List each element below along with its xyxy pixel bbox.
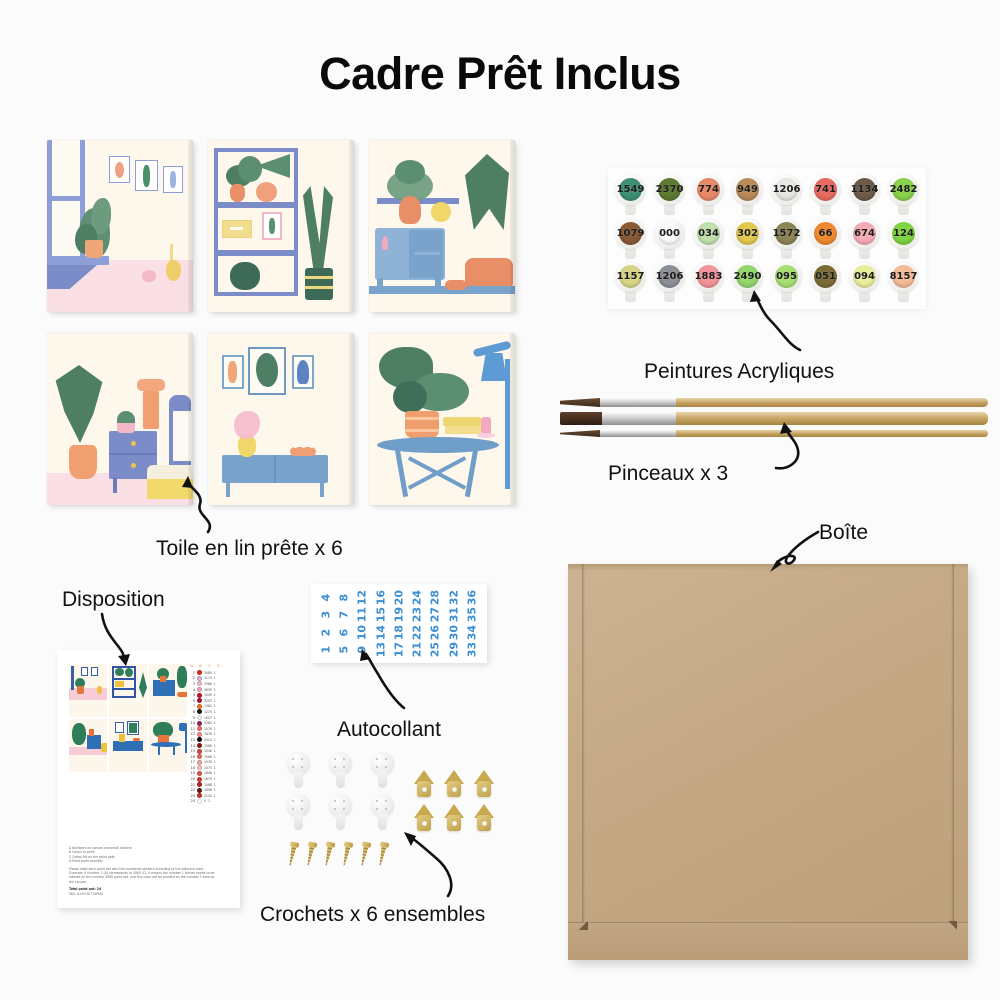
- legend-swatch: [197, 782, 202, 787]
- legend-code: 0314: [204, 738, 212, 742]
- screw: [340, 841, 354, 866]
- legend-swatch: [197, 670, 202, 675]
- legend-number: 14: [188, 744, 195, 748]
- paint-pot-number: 1206: [652, 271, 687, 282]
- sticker-number: 23: [409, 606, 426, 624]
- paint-pot: 034: [691, 218, 726, 260]
- paint-pot: 66: [808, 218, 843, 260]
- adhesive-hook: [283, 752, 314, 788]
- legend-code: 1049: [204, 693, 212, 697]
- canvas-6: [369, 333, 515, 505]
- d-ring: [442, 804, 466, 832]
- d-ring: [412, 770, 436, 798]
- sticker-number: 31: [445, 606, 462, 624]
- canvas-3: [369, 140, 515, 312]
- paint-pot-number: 1157: [613, 271, 648, 282]
- paint-pot-number: 2482: [886, 184, 921, 195]
- sticker-number: 1: [317, 640, 334, 658]
- sticker-number: 9: [354, 640, 371, 658]
- legend-qty: 1: [214, 716, 216, 720]
- paint-pot-number: 302: [730, 228, 765, 239]
- legend-header-cell: D: [215, 664, 222, 668]
- paint-pot-number: 2490: [730, 271, 765, 282]
- paint-pot: 124: [886, 218, 921, 260]
- legend-code: 1046: [204, 749, 212, 753]
- legend-number: 10: [188, 721, 195, 725]
- paint-pot: 1079: [613, 218, 648, 260]
- paint-pot-number: 1549: [613, 184, 648, 195]
- legend-swatch: [197, 765, 202, 770]
- d-ring: [442, 770, 466, 798]
- legend-code: 3476: [204, 732, 212, 736]
- mini-2: [109, 664, 147, 717]
- screw: [322, 841, 336, 866]
- legend-swatch: [197, 799, 202, 804]
- paint-pot-number: 051: [808, 271, 843, 282]
- paint-pot-number: 034: [691, 228, 726, 239]
- paint-pot: 094: [847, 261, 882, 303]
- legend-swatch: [197, 754, 202, 759]
- legend-qty: 1: [214, 788, 216, 792]
- screw: [358, 841, 372, 866]
- legend-number: 15: [188, 749, 195, 753]
- paint-pot: 095: [769, 261, 804, 303]
- legend-qty: 1: [214, 721, 216, 725]
- legend-code: 1088: [204, 783, 212, 787]
- paint-row-3: 11571206188324900950510948157: [613, 261, 921, 303]
- mini-5: [109, 719, 147, 772]
- legend-code: 1073: [204, 766, 212, 770]
- sticker-number: 18: [390, 623, 407, 641]
- sticker-number: 12: [354, 589, 371, 607]
- legend-swatch: [197, 676, 202, 681]
- sku-line: SKU: 6-LYCHOT-SD940: [69, 892, 219, 896]
- sticker-number: 11: [354, 606, 371, 624]
- box-label: Boîte: [819, 521, 868, 545]
- paint-pot-number: 095: [769, 271, 804, 282]
- paint-pot: 1157: [613, 261, 648, 303]
- legend-swatch: [197, 704, 202, 709]
- paint-pot: 1206: [769, 174, 804, 216]
- legend-swatch: [197, 693, 202, 698]
- paint-pot: 000: [652, 218, 687, 260]
- paint-pot-number: 000: [652, 228, 687, 239]
- legend-swatch: [197, 698, 202, 703]
- screw: [286, 841, 300, 866]
- legend-swatch: [197, 721, 202, 726]
- canvas-1: [47, 140, 193, 312]
- sticker-number: 13: [372, 640, 389, 658]
- paint-pot-number: 8157: [886, 271, 921, 282]
- paint-pot: 774: [691, 174, 726, 216]
- brush-1: [560, 398, 988, 407]
- legend-number: 6: [188, 699, 195, 703]
- sticker-number: 6: [336, 623, 353, 641]
- sticker-number: 24: [409, 589, 426, 607]
- paint-pot: 302: [730, 218, 765, 260]
- legend-header-cell: N: [188, 664, 195, 668]
- paint-row-2: 1079000034302157266674124: [613, 218, 921, 260]
- adhesive-hook: [367, 752, 398, 788]
- adhesive-hook: [367, 794, 398, 830]
- screws: [288, 842, 398, 866]
- legend-swatch: [197, 743, 202, 748]
- mini-4: [69, 719, 107, 772]
- legend-qty: 1: [214, 688, 216, 692]
- paint-pot-number: 774: [691, 184, 726, 195]
- instruction-line: D Paint parts quantity: [69, 859, 219, 863]
- brush-3: [560, 430, 988, 437]
- legend-qty: 1: [214, 732, 216, 736]
- legend-code: 1656: [204, 788, 212, 792]
- sticker-number: 7: [336, 606, 353, 624]
- legend-code: 1568: [204, 744, 212, 748]
- legend-swatch: [197, 687, 202, 692]
- legend-code: 3366: [204, 682, 212, 686]
- legend-swatch: [197, 732, 202, 737]
- legend-swatch: [197, 681, 202, 686]
- sticker-number: 30: [445, 623, 462, 641]
- legend-swatch: [197, 760, 202, 765]
- legend-qty: 1: [214, 783, 216, 787]
- legend-number: 22: [188, 788, 195, 792]
- legend-number: 23: [188, 794, 195, 798]
- paint-pot: 1134: [847, 174, 882, 216]
- paints-label: Peintures Acryliques: [644, 360, 834, 384]
- legend-number: 18: [188, 766, 195, 770]
- paint-pot-number: 66: [808, 228, 843, 239]
- brushes-label: Pinceaux x 3: [608, 462, 728, 486]
- mini-6: [149, 719, 187, 772]
- canvas-5: [208, 333, 354, 505]
- legend-qty: 1: [214, 704, 216, 708]
- legend-number: 2: [188, 676, 195, 680]
- paint-pot: 1206: [652, 261, 687, 303]
- paint-pot: 2490: [730, 261, 765, 303]
- sticker-number: 8: [336, 589, 353, 607]
- layout-sheet: NBCD 13080123174133366143635151049163253…: [57, 650, 240, 908]
- legend-row: 2401: [188, 799, 232, 805]
- mini-1: [69, 664, 107, 717]
- legend-swatch: [197, 771, 202, 776]
- d-rings: [412, 770, 496, 832]
- paint-pot-number: 2370: [652, 184, 687, 195]
- instructions-block: A Numbers on canvas and small stickersB …: [69, 846, 219, 896]
- paint-pot: 8157: [886, 261, 921, 303]
- sticker-number: 17: [390, 640, 407, 658]
- legend-number: 8: [188, 710, 195, 714]
- brush-set: [560, 398, 990, 450]
- hooks-label: Crochets x 6 ensembles: [260, 903, 485, 927]
- mini-3: [149, 664, 187, 717]
- sticker-number: 15: [372, 606, 389, 624]
- mini-preview-grid: [69, 664, 187, 772]
- poster-root: Cadre Prêt Inclus: [0, 0, 1000, 1000]
- paint-pot-number: 1206: [769, 184, 804, 195]
- paint-row-1: 15492370774949120674111342482: [613, 174, 921, 216]
- shipping-box: [568, 564, 968, 960]
- d-ring: [412, 804, 436, 832]
- legend-qty: 1: [214, 676, 216, 680]
- paint-pot: 741: [808, 174, 843, 216]
- sticker-number: 33: [463, 640, 480, 658]
- brush-2: [560, 412, 988, 425]
- legend-swatch: [197, 715, 202, 720]
- legend-swatch: [197, 737, 202, 742]
- paint-pot: 1883: [691, 261, 726, 303]
- canvas-4: [47, 333, 193, 505]
- paint-pot: 2370: [652, 174, 687, 216]
- canvas-2: [208, 140, 354, 312]
- legend-number: 19: [188, 771, 195, 775]
- paint-pot-number: 1572: [769, 228, 804, 239]
- legend-code: 3080: [204, 671, 212, 675]
- legend-qty: 1: [214, 682, 216, 686]
- legend-qty: 1: [214, 744, 216, 748]
- adhesive-hook: [325, 752, 356, 788]
- legend-swatch: [197, 777, 202, 782]
- legend-number: 9: [188, 716, 195, 720]
- canvas-grid: [47, 140, 515, 505]
- legend-code: 1566: [204, 755, 212, 759]
- legend-qty: 1: [214, 738, 216, 742]
- paint-pot-number: 124: [886, 228, 921, 239]
- legend-number: 20: [188, 777, 195, 781]
- paint-pot-number: 674: [847, 228, 882, 239]
- adhesive-hook: [325, 794, 356, 830]
- legend-code: 0: [204, 799, 206, 803]
- legend-code: 3174: [204, 676, 212, 680]
- sticker-number: 2: [317, 623, 334, 641]
- paint-pot-number: 094: [847, 271, 882, 282]
- sticker-number: 19: [390, 606, 407, 624]
- legend-qty: 1: [214, 699, 216, 703]
- sticker-number: 22: [409, 623, 426, 641]
- legend-number: 17: [188, 760, 195, 764]
- sticker-number: 4: [317, 589, 334, 607]
- legend-code: 1648: [204, 771, 212, 775]
- sticker-number: 25: [427, 640, 444, 658]
- legend-qty: 1: [214, 693, 216, 697]
- legend-number: 24: [188, 799, 195, 803]
- instructions-body: Please label each paint pot with the num…: [69, 867, 219, 885]
- legend-qty: 1: [214, 766, 216, 770]
- page-title: Cadre Prêt Inclus: [0, 48, 1000, 100]
- sticker-number: 5: [336, 640, 353, 658]
- legend-number: 13: [188, 738, 195, 742]
- legend-swatch: [197, 793, 202, 798]
- paint-pot: 949: [730, 174, 765, 216]
- hooks-arrow: [398, 826, 460, 900]
- paint-pot: 1549: [613, 174, 648, 216]
- d-ring: [472, 770, 496, 798]
- legend-code: 1027: [204, 716, 212, 720]
- paint-pot: 1572: [769, 218, 804, 260]
- legend-swatch: [197, 709, 202, 714]
- sticker-number: 28: [427, 589, 444, 607]
- legend-number: 3: [188, 682, 195, 686]
- sticker-number: 10: [354, 623, 371, 641]
- layout-label: Disposition: [62, 588, 165, 612]
- legend-qty: 1: [214, 710, 216, 714]
- sticker-number: 3: [317, 606, 334, 624]
- color-legend: NBCD 13080123174133366143635151049163253…: [188, 664, 232, 804]
- paint-pot-number: 741: [808, 184, 843, 195]
- legend-qty: 1: [214, 727, 216, 731]
- adhesive-hooks: [283, 752, 403, 830]
- canvas-label: Toile en lin prête x 6: [156, 537, 343, 561]
- paint-pot: 2482: [886, 174, 921, 216]
- legend-number: 21: [188, 783, 195, 787]
- legend-code: 1079: [204, 727, 212, 731]
- legend-code: 5260: [204, 721, 212, 725]
- sticker-number: 21: [409, 640, 426, 658]
- legend-header-cell: C: [206, 664, 213, 668]
- legend-code: 1384: [204, 704, 212, 708]
- paint-pot-number: 1883: [691, 271, 726, 282]
- screw: [304, 841, 318, 866]
- legend-code: 1076: [204, 760, 212, 764]
- sticker-number: 27: [427, 606, 444, 624]
- paint-pot-number: 1134: [847, 184, 882, 195]
- legend-qty: 1: [214, 755, 216, 759]
- legend-code: 2124: [204, 794, 212, 798]
- stickers-label: Autocollant: [337, 718, 441, 742]
- paint-pot: 674: [847, 218, 882, 260]
- legend-number: 5: [188, 693, 195, 697]
- sticker-number: 26: [427, 623, 444, 641]
- sticker-number: 36: [463, 589, 480, 607]
- adhesive-hook: [283, 794, 314, 830]
- paint-pot-number: 1079: [613, 228, 648, 239]
- sticker-number: 29: [445, 640, 462, 658]
- legend-qty: 1: [214, 760, 216, 764]
- legend-code: 3253: [204, 699, 212, 703]
- legend-number: 4: [188, 688, 195, 692]
- legend-swatch: [197, 749, 202, 754]
- legend-number: 16: [188, 755, 195, 759]
- legend-qty: 1: [214, 671, 216, 675]
- legend-qty: 1: [208, 799, 210, 803]
- legend-swatch: [197, 726, 202, 731]
- sticker-number: 16: [372, 589, 389, 607]
- legend-code: 3635: [204, 688, 212, 692]
- sticker-number: 32: [445, 589, 462, 607]
- legend-number: 1: [188, 671, 195, 675]
- paint-pot-tray: 15492370774949120674111342482 1079000034…: [608, 168, 926, 309]
- paint-pot: 051: [808, 261, 843, 303]
- paint-pot-number: 949: [730, 184, 765, 195]
- screw: [376, 841, 390, 866]
- legend-qty: 1: [214, 749, 216, 753]
- legend-swatch: [197, 788, 202, 793]
- sticker-number: 34: [463, 623, 480, 641]
- legend-qty: 1: [214, 777, 216, 781]
- legend-number: 12: [188, 732, 195, 736]
- legend-qty: 1: [214, 794, 216, 798]
- sticker-sheet: 4812162024283236371115192327313526101418…: [311, 584, 487, 663]
- sticker-number: 14: [372, 623, 389, 641]
- legend-header-cell: B: [197, 664, 204, 668]
- legend-number: 7: [188, 704, 195, 708]
- legend-code: 1679: [204, 777, 212, 781]
- sticker-number: 20: [390, 589, 407, 607]
- legend-qty: 1: [214, 771, 216, 775]
- legend-code: 1274: [204, 710, 212, 714]
- d-ring: [472, 804, 496, 832]
- sticker-number: 35: [463, 606, 480, 624]
- legend-header: NBCD: [188, 664, 232, 668]
- legend-number: 11: [188, 727, 195, 731]
